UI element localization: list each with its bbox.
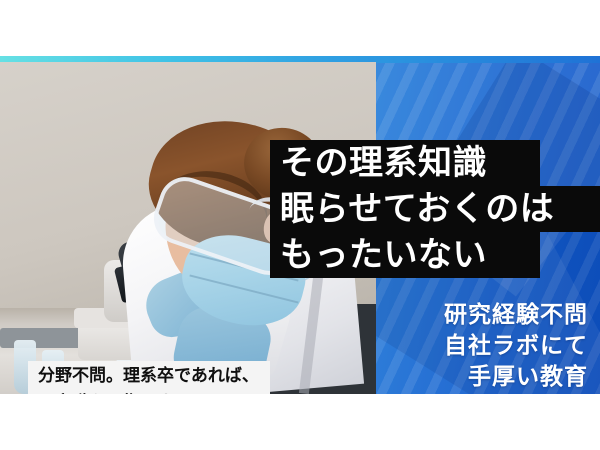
caption-line-2: 研究職を目指せます。 [38,390,262,394]
benefits-list: 研究経験不問 自社ラボにて 手厚い教育 [383,300,588,393]
caption-box: 分野不問。理系卒であれば、 研究職を目指せます。 [28,361,270,394]
benefit-line-2: 自社ラボにて [383,331,588,362]
caption-line-1: 分野不問。理系卒であれば、 [38,363,262,390]
benefit-line-3: 手厚い教育 [383,362,588,393]
headline-line-2: 眠らせておくのは [270,186,600,232]
benefit-line-1: 研究経験不問 [383,300,588,331]
recruitment-banner: その理系知識 眠らせておくのは もったいない 研究経験不問 自社ラボにて 手厚い… [0,56,600,394]
headline-line-3: もったいない [270,232,540,278]
headline-line-1: その理系知識 [270,140,540,186]
